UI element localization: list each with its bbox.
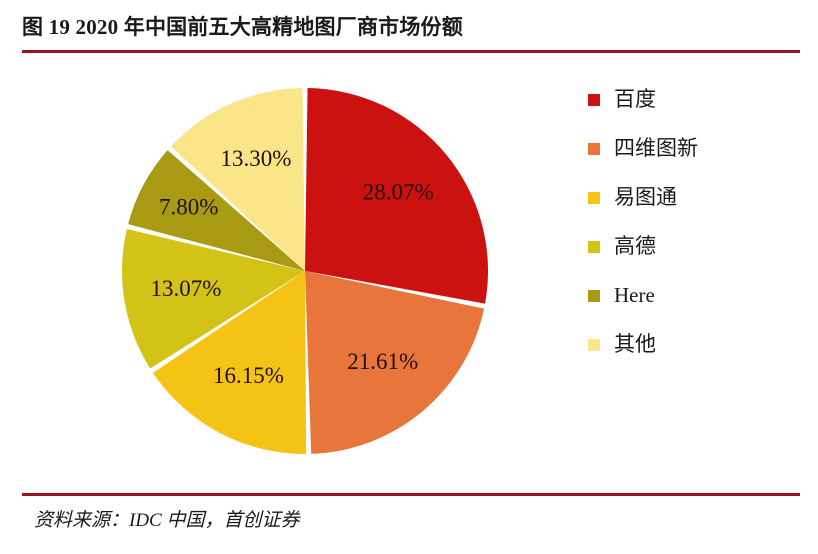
legend-item-label: Here (614, 285, 655, 306)
legend-item-label: 高德 (614, 236, 656, 257)
legend-swatch-icon (588, 94, 600, 106)
legend-swatch-icon (588, 241, 600, 253)
legend-swatch-icon (588, 192, 600, 204)
legend-item[interactable]: Here (588, 271, 778, 320)
figure-root: 图 19 2020 年中国前五大高精地图厂商市场份额 28.07%21.61%1… (0, 0, 818, 554)
pie-slice-label: 21.61% (347, 349, 418, 374)
legend-item-label: 易图通 (614, 187, 677, 208)
legend-item-label: 百度 (614, 89, 656, 110)
legend-item[interactable]: 易图通 (588, 173, 778, 222)
legend-swatch-icon (588, 143, 600, 155)
title-divider-rule (22, 50, 800, 53)
pie-slice-group (122, 88, 488, 454)
legend-item-label: 其他 (614, 334, 656, 355)
legend-swatch-icon (588, 290, 600, 302)
legend-item-label: 四维图新 (614, 138, 698, 159)
page-title: 图 19 2020 年中国前五大高精地图厂商市场份额 (22, 10, 800, 44)
source-note: 资料来源：IDC 中国，首创证券 (34, 505, 299, 532)
chart-legend: 百度四维图新易图通高德Here其他 (588, 75, 778, 369)
source-divider-rule (22, 493, 800, 496)
legend-swatch-icon (588, 339, 600, 351)
pie-slice-label: 13.30% (221, 146, 292, 171)
legend-item[interactable]: 四维图新 (588, 124, 778, 173)
pie-slice-label: 7.80% (159, 194, 218, 219)
pie-slice-label: 13.07% (150, 276, 221, 301)
pie-slice-label: 16.15% (213, 363, 284, 388)
legend-item[interactable]: 百度 (588, 75, 778, 124)
pie-slice-label: 28.07% (363, 179, 434, 204)
legend-item[interactable]: 高德 (588, 222, 778, 271)
legend-item[interactable]: 其他 (588, 320, 778, 369)
pie-chart: 28.07%21.61%16.15%13.07%7.80%13.30% (110, 76, 500, 466)
figure-title-bar: 图 19 2020 年中国前五大高精地图厂商市场份额 (22, 10, 800, 50)
